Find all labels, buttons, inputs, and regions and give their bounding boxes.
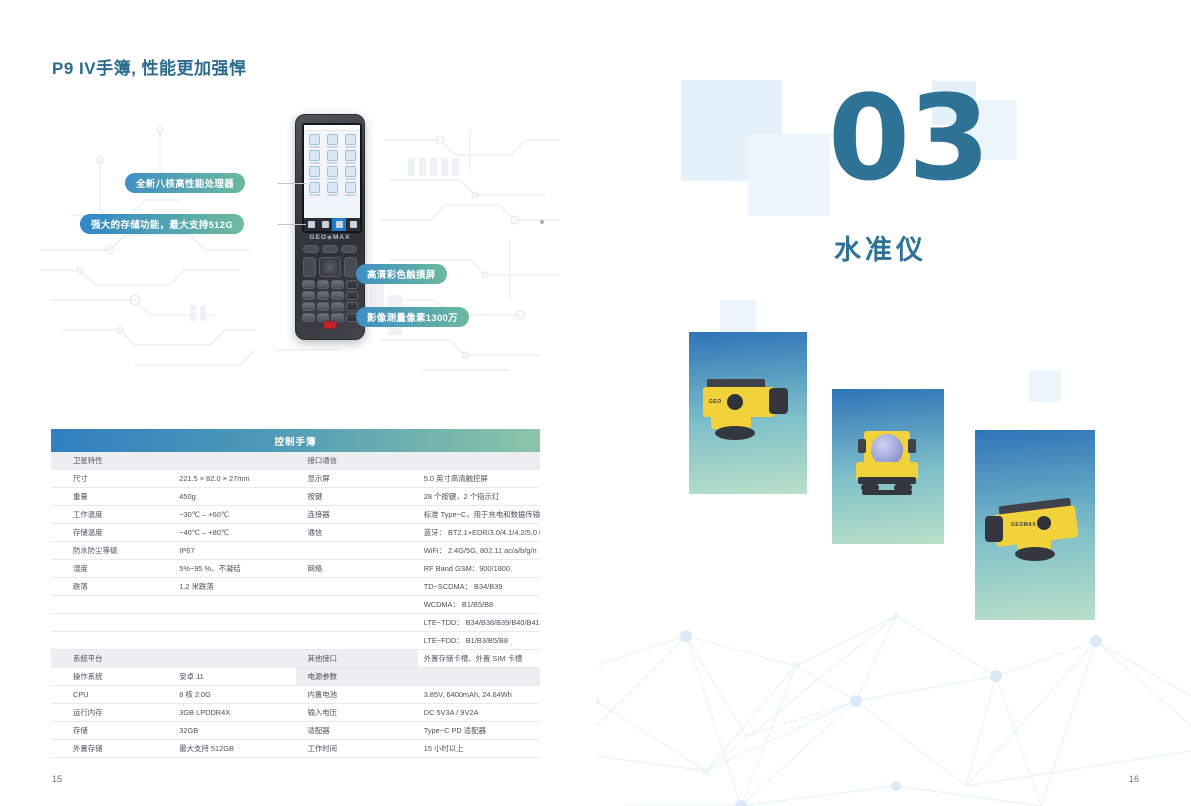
device-soft-keys [303,245,357,253]
cell-value: LTE−TDD： B34/B38/B39/B40/B41 [418,614,540,632]
table-row: LTE−FDD： B1/B3/B5/B8 [51,632,540,650]
cell-value: TD−SCDMA： B34/B39 [418,578,540,596]
table-row: 湿度 5%−95 %、不凝结 网络 RF Band GSM：900/1800 [51,560,540,578]
table-row: 工作温度 −30℃ – +60℃ 连接器 标准 Type−C，用于充电和数据传输 [51,506,540,524]
cell-value: −30℃ – +60℃ [173,506,295,524]
app-icon [306,134,322,148]
right-page: 03 水准仪 GEO [596,0,1191,806]
callout-storage: 强大的存储功能，最大支持512G [80,214,244,234]
cell-value: 8 核 2.0G [173,686,295,704]
cell-label: 湿度 [51,560,173,578]
circuit-node [540,220,544,224]
cell-label: 重量 [51,488,173,506]
page-headline: P9 IV手簿, 性能更加强悍 [52,54,247,79]
cell-label [296,596,418,614]
table-row: 外置存储 最大支持 512GB 工作时间 15 小时以上 [51,740,540,758]
cell-value [173,596,295,614]
cell-label: 内置电池 [296,686,418,704]
taskbar-close-icon [346,218,360,231]
decor-square [720,300,756,336]
cell-value: 28 个按键，2 个指示灯 [418,488,540,506]
level-instrument-illustration [832,389,944,544]
brochure-spread: P9 IV手簿, 性能更加强悍 [0,0,1191,806]
device-keypad [302,280,358,322]
cell-value [173,650,295,668]
cell-label: 外置存储 [51,740,173,758]
photo-level-instrument-side: GEO [689,332,807,494]
app-icon [306,150,322,164]
cell-label [296,542,418,560]
level-instrument-illustration: GEOMAX [975,430,1095,620]
cell-value: WCDMA： B1/B5/B8 [418,596,540,614]
callout-lead-line [278,183,306,184]
cell-value: 221.5 × 82.0 × 27mm [173,470,295,488]
photo-level-instrument-front [832,389,944,544]
cell-value [418,668,540,686]
network-pattern-decoration [596,606,1191,806]
cell-label: 系统平台 [51,650,173,668]
device-taskbar [304,218,360,231]
spec-table: 控制手簿 卫星特性 接口通信 尺寸 221.5 × 82.0 × 27mm 显示… [51,429,540,758]
app-icon [342,166,358,180]
section-title: 水准仪 [834,228,927,267]
cell-value: 5%−95 %、不凝结 [173,560,295,578]
cell-value: 15 小时以上 [418,740,540,758]
spec-table-title: 控制手簿 [51,429,540,452]
cell-label: 操作系统 [51,668,173,686]
app-icon [324,182,340,196]
cell-label: 存储 [51,722,173,740]
cell-value: DC 5V3A / 9V2A [418,704,540,722]
table-row: 系统平台 其他接口 外置存储卡槽、外置 SIM 卡槽 [51,650,540,668]
left-page: P9 IV手簿, 性能更加强悍 [0,0,596,806]
cell-value: 最大支持 512GB [173,740,295,758]
cell-label: 连接器 [296,506,418,524]
cell-label: 其他接口 [296,650,418,668]
cell-label [51,614,173,632]
cell-label: CPU [51,686,173,704]
table-row: CPU 8 核 2.0G 内置电池 3.85V, 6400mAh, 24.64W… [51,686,540,704]
cell-label [51,596,173,614]
cell-label: 按键 [296,488,418,506]
app-icon [306,166,322,180]
table-row: WCDMA： B1/B5/B8 [51,596,540,614]
cell-label [296,614,418,632]
cell-value: Type−C PD 适配器 [418,722,540,740]
callout-cpu: 全新八核高性能处理器 [125,173,245,193]
table-row: LTE−TDD： B34/B38/B39/B40/B41 [51,614,540,632]
photo-level-instrument-angle: GEOMAX [975,430,1095,620]
app-icon [324,166,340,180]
cell-value: 450g [173,488,295,506]
cell-label: 电源参数 [296,668,418,686]
cell-label: 通信 [296,524,418,542]
cell-value: 标准 Type−C，用于充电和数据传输 [418,506,540,524]
cell-value: RF Band GSM：900/1800 [418,560,540,578]
cell-value: 5.0 英寸高清触控屏 [418,470,540,488]
cell-value: WiFi： 2.4G/5G, 802.11 ac/a/b/g/n [418,542,540,560]
device-brand-label: GEO◈MAX [296,233,364,241]
cell-value: 外置存储卡槽、外置 SIM 卡槽 [418,650,540,668]
cell-label: 运行内存 [51,704,173,722]
app-icon [324,134,340,148]
cell-value: −40℃ – +80℃ [173,524,295,542]
section-number: 03 [828,84,988,193]
cell-label [51,632,173,650]
cell-value [173,452,295,470]
table-row: 运行内存 3GB LPDDR4X 输入电压 DC 5V3A / 9V2A [51,704,540,722]
device-power-button [323,321,337,329]
cell-value: 1.2 米跌落 [173,578,295,596]
table-row: 存储温度 −40℃ – +80℃ 通信 蓝牙： BT2.1+EDR/3.0/4.… [51,524,540,542]
table-row: 存储 32GB 适配器 Type−C PD 适配器 [51,722,540,740]
decor-square [748,134,830,216]
cell-label [296,632,418,650]
level-instrument-illustration: GEO [689,332,807,494]
cell-label: 尺寸 [51,470,173,488]
app-icon [342,134,358,148]
cell-label: 工作温度 [51,506,173,524]
cell-value: 蓝牙： BT2.1+EDR/3.0/4.1/4.2/5.0 BLE [418,524,540,542]
device-screen [302,123,362,233]
cell-label: 跌落 [51,578,173,596]
table-row: 跌落 1.2 米跌落 TD−SCDMA： B34/B39 [51,578,540,596]
table-row: 尺寸 221.5 × 82.0 × 27mm 显示屏 5.0 英寸高清触控屏 [51,470,540,488]
cell-label: 网络 [296,560,418,578]
page-number-right: 16 [1129,774,1139,784]
table-row: 重量 450g 按键 28 个按键，2 个指示灯 [51,488,540,506]
app-icon [342,182,358,196]
spec-table-header-row: 控制手簿 [51,429,540,452]
page-number-left: 15 [52,774,62,784]
cell-label [296,578,418,596]
cell-label: 接口通信 [296,452,418,470]
cell-label: 卫星特性 [51,452,173,470]
cell-label: 防水防尘等级 [51,542,173,560]
taskbar-active-icon [332,218,346,231]
cell-value: 3GB LPDDR4X [173,704,295,722]
decor-square [1029,370,1061,402]
table-row: 卫星特性 接口通信 [51,452,540,470]
cell-value: 安卓 11 [173,668,295,686]
table-row: 防水防尘等级 IP67 WiFi： 2.4G/5G, 802.11 ac/a/b… [51,542,540,560]
device-navpad-row [303,257,357,277]
cell-value [173,614,295,632]
app-icon [342,150,358,164]
cell-value: IP67 [173,542,295,560]
cell-label: 存储温度 [51,524,173,542]
cell-label: 输入电压 [296,704,418,722]
hero-illustration: GEO◈MAX 全新八核高性能处理器 强大 [40,100,560,390]
spec-table-body: 控制手簿 卫星特性 接口通信 尺寸 221.5 × 82.0 × 27mm 显示… [51,429,540,758]
cell-value: 3.85V, 6400mAh, 24.64Wh [418,686,540,704]
callout-lead-line [278,224,306,225]
handheld-device: GEO◈MAX [295,114,365,340]
cell-label: 显示屏 [296,470,418,488]
taskbar-home-icon [304,218,318,231]
cell-label: 适配器 [296,722,418,740]
app-icon [306,182,322,196]
callout-screen: 高清彩色触摸屏 [356,264,447,284]
taskbar-menu-icon [318,218,332,231]
callout-camera: 影像测量像素1300万 [356,307,469,327]
table-row: 操作系统 安卓 11 电源参数 [51,668,540,686]
cell-value [418,452,540,470]
cell-value [173,632,295,650]
cell-value: LTE−FDD： B1/B3/B5/B8 [418,632,540,650]
app-icon [324,150,340,164]
cell-value: 32GB [173,722,295,740]
device-app-grid [304,131,360,199]
cell-label: 工作时间 [296,740,418,758]
